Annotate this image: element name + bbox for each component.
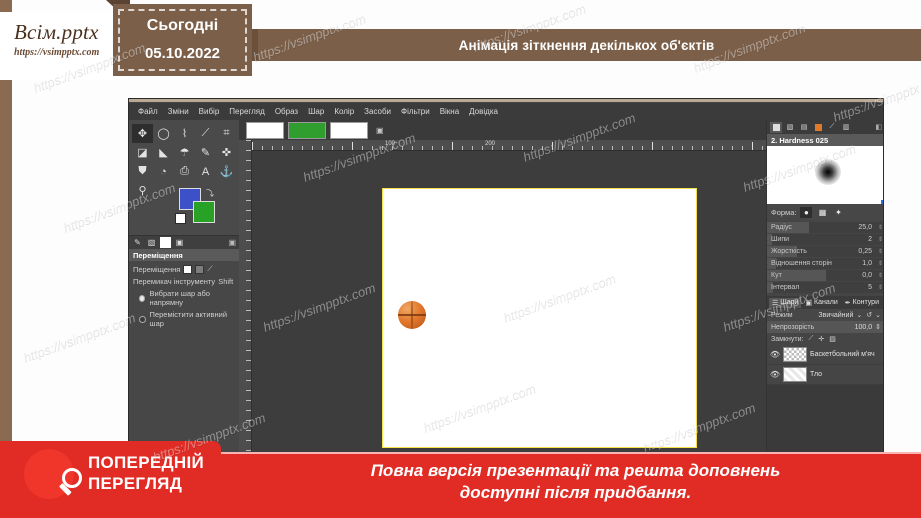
ruler-tick [352, 142, 353, 151]
canvas-viewport[interactable] [252, 151, 766, 496]
param-value: 0,25 [858, 248, 872, 255]
menu-item-6[interactable]: Колір [329, 105, 359, 118]
ruler-tick-v [246, 160, 251, 161]
param-spinner-icon[interactable]: ⇕ [878, 236, 883, 243]
crop-tool[interactable]: ⌗ [216, 124, 237, 143]
gimp-canvas-area: ▣ ▣ 100200 [239, 120, 766, 496]
tool-option-radio-1[interactable]: Перемістити активний шар [129, 307, 239, 328]
move-path-icon[interactable]: ⟋ [207, 264, 212, 274]
ruler-tick-v [246, 410, 251, 411]
chevron-down-icon-2[interactable]: ⌄ [875, 311, 881, 319]
ruler-tick-v [246, 150, 251, 151]
layer-mode-row[interactable]: Режим Звичайний ⌄ ↺ ⌄ [767, 309, 884, 321]
ruler-tick-v [246, 360, 251, 361]
brush-indicator-icon[interactable]: ✎ [132, 237, 143, 248]
brush-param-3[interactable]: Відношення сторін1,0⇕ [767, 258, 884, 269]
layer-thumbnail[interactable] [783, 367, 807, 382]
tool-options-row[interactable]: Переміщення ⟋ [129, 261, 239, 274]
menu-item-10[interactable]: Довідка [464, 105, 503, 118]
layer-opacity-row[interactable]: Непрозорість 100,0 ⇕ [767, 321, 884, 333]
brush-resize-handle[interactable] [881, 200, 884, 204]
gimp-menubar[interactable]: ФайлЗміниВибірПереглядОбразШарКолірЗасоб… [129, 103, 883, 120]
horizontal-ruler[interactable]: 100200 [252, 140, 766, 151]
layers-icon: ☰ [772, 299, 778, 307]
page-title: Анімація зіткнення декількох об'єктів [459, 38, 715, 53]
perspective-tool[interactable]: ⛊ [132, 162, 153, 181]
date-badge: Сьогодні 05.10.2022 [113, 4, 252, 76]
brand-url: https://vsimpptx.com [14, 47, 99, 58]
move-tool[interactable]: ✥ [132, 124, 153, 143]
measure-tool[interactable]: ⚓ [216, 162, 237, 181]
ruler-tick-v [246, 320, 251, 321]
paths-tool[interactable]: ⟋ [195, 124, 216, 143]
magnifier-icon [24, 449, 74, 499]
tab-gradients-icon[interactable]: ⟋ [826, 122, 838, 133]
brush-param-2[interactable]: Жорсткість0,25⇕ [767, 246, 884, 257]
menu-item-4[interactable]: Образ [270, 105, 303, 118]
ruler-tick-v [246, 250, 251, 251]
tool-options-header: Переміщення [129, 249, 239, 261]
image-thumbnail-bar[interactable]: ▣ [239, 120, 766, 140]
close-image-icon[interactable]: ▣ [376, 126, 384, 135]
param-value: 1,0 [862, 260, 872, 267]
ruler-tick-v [246, 440, 251, 441]
layer-thumbnail[interactable] [783, 347, 807, 362]
brush-name: 2. Hardness 025 [767, 134, 884, 146]
tab-fonts-icon[interactable]: ▤ [798, 122, 810, 133]
tab-brushes-icon[interactable] [770, 122, 782, 133]
brush-parameters[interactable]: Радіус25,0⇕Шипи2⇕Жорсткість0,25⇕Відношен… [767, 222, 884, 293]
diamond-shape-icon[interactable]: ✦ [832, 207, 844, 218]
pattern-indicator-icon[interactable]: ▧ [146, 237, 157, 248]
color-swatches[interactable]: ⤵ [175, 188, 221, 226]
preview-badge: ПОПЕРЕДНІЙ ПЕРЕГЛЯД [0, 441, 221, 507]
tab-document-history-icon[interactable]: ▥ [840, 122, 852, 133]
ruler-tick-v [246, 270, 251, 271]
brush-param-4[interactable]: Кут0,0⇕ [767, 270, 884, 281]
brush-preview[interactable] [767, 146, 884, 204]
ruler-tick-v [246, 140, 251, 141]
ruler-tick-v [246, 420, 251, 421]
layer-row[interactable]: 👁Тло [767, 365, 884, 385]
param-label: Інтервал [767, 284, 799, 291]
tab-palettes-icon[interactable] [812, 122, 824, 133]
move-layer-icon[interactable] [183, 265, 192, 274]
brush-param-5[interactable]: Інтервал5⇕ [767, 282, 884, 293]
menu-item-3[interactable]: Перегляд [224, 105, 270, 118]
tab-channels-label: Канали [814, 299, 838, 306]
bucket-fill-tool[interactable]: ◣ [153, 143, 174, 162]
menu-item-9[interactable]: Вікна [435, 105, 464, 118]
brush-shape-preview [815, 159, 841, 185]
ruler-tick-v [246, 310, 251, 311]
ruler-tick-v [246, 370, 251, 371]
radio-on-icon[interactable] [139, 295, 145, 302]
ruler-tick-v [246, 340, 251, 341]
dock-menu-icon[interactable]: ◧ [875, 123, 882, 131]
ruler-tick-v [246, 400, 251, 401]
preview-badge-line-1: ПОПЕРЕДНІЙ [88, 453, 204, 473]
layer-opacity-value: 100,0 [855, 324, 873, 331]
param-label: Шипи [767, 236, 789, 243]
ruler-tick [452, 142, 453, 151]
ruler-tick [252, 142, 253, 151]
free-select-tool[interactable]: ⌇ [174, 124, 195, 143]
transform-tool[interactable]: ◪ [132, 143, 153, 162]
brand-name: Всім.pptx [14, 20, 99, 45]
layer-lock-row[interactable]: Замкнути: ⟋ ✛ ▨ [767, 333, 884, 345]
param-spinner-icon[interactable]: ⇕ [878, 260, 883, 267]
ball-seam-vertical [411, 301, 413, 329]
tab-layers-label: Шари [780, 299, 798, 306]
canvas-sheet[interactable] [383, 189, 696, 447]
param-spinner-icon[interactable]: ⇕ [878, 248, 883, 255]
layers-dock-menu-icon[interactable]: ◧ [883, 299, 884, 307]
ruler-tick-v [246, 220, 251, 221]
swap-colors-icon[interactable]: ⤵ [206, 188, 214, 199]
toolbox-indicator-row[interactable]: ✎ ▧ ▣ ▣ [129, 235, 239, 249]
channels-icon: ▣ [805, 299, 812, 307]
gimp-toolbox: ✥◯⌇⟋⌗◪◣☂✎✜⛊◔⎙A⚓⚲ ⤵ ✎ ▧ ▣ ▣ Переміщення П… [129, 120, 239, 496]
ruler-tick-v [246, 170, 251, 171]
param-label: Жорсткість [767, 248, 807, 255]
menu-item-8[interactable]: Фільтри [396, 105, 435, 118]
slide-title-bar: Анімація зіткнення декількох об'єктів [252, 29, 921, 61]
radio-off-icon[interactable] [139, 316, 146, 323]
layer-lock-label: Замкнути: [771, 336, 803, 343]
ruler-tick-v [246, 190, 251, 191]
image-indicator-icon[interactable]: ▣ [174, 237, 185, 248]
image-thumbnail-1[interactable] [246, 122, 284, 139]
banner-line-1: Повна версія презентації та решта доповн… [230, 461, 921, 481]
brush-dock-tabs[interactable]: ▧ ▤ ⟋ ▥ ◧ [767, 120, 884, 134]
smudge-tool[interactable]: ☂ [174, 143, 195, 162]
circle-shape-icon[interactable]: ● [800, 207, 812, 218]
date-label: Сьогодні [113, 17, 252, 35]
menu-item-1[interactable]: Зміни [163, 105, 194, 118]
lock-alpha-icon[interactable]: ▨ [829, 335, 836, 343]
lock-pixels-icon[interactable]: ⟋ [808, 335, 813, 343]
layer-visibility-icon[interactable]: 👁 [770, 350, 780, 360]
ruler-tick-v [246, 380, 251, 381]
tool-option-label-1: Перемістити активний шар [150, 310, 235, 328]
brush-param-0[interactable]: Радіус25,0⇕ [767, 222, 884, 233]
param-spinner-icon[interactable]: ⇕ [878, 224, 883, 231]
tab-channels[interactable]: ▣ Канали [802, 298, 840, 308]
lock-position-icon[interactable]: ✛ [818, 335, 824, 343]
layer-mode-value: Звичайний [818, 312, 853, 319]
layer-row[interactable]: 👁Баскетбольний м'яч [767, 345, 884, 365]
ruler-tick-v [246, 260, 251, 261]
move-selection-icon[interactable] [195, 265, 204, 274]
ruler-label: 200 [485, 141, 495, 147]
gimp-right-docks: ▧ ▤ ⟋ ▥ ◧ 2. Hardness 025 Форма: ● ▦ ✦ Р… [766, 120, 884, 496]
image-thumbnail-3[interactable] [330, 122, 368, 139]
ruler-tick-v [246, 300, 251, 301]
param-value: 25,0 [858, 224, 872, 231]
layer-mode-label: Режим [771, 312, 793, 319]
brush-shape-label: Форма: [771, 208, 796, 217]
ruler-tick-v [246, 290, 251, 291]
toolbox-menu-icon[interactable]: ▣ [228, 238, 236, 247]
tool-toggle-row: Перемикач інструменту Shift [129, 274, 239, 286]
ruler-tick-v [246, 200, 251, 201]
tab-paths[interactable]: ✒ Контури [842, 298, 882, 308]
menu-item-0[interactable]: Файл [133, 105, 163, 118]
layer-list[interactable]: 👁Баскетбольний м'яч👁Тло [767, 345, 884, 385]
ellipse-select-tool[interactable]: ◯ [153, 124, 174, 143]
chevron-down-icon[interactable]: ⌄ [856, 311, 862, 319]
undo-history-icon[interactable]: ↺ [866, 311, 872, 319]
ruler-tick-v [246, 430, 251, 431]
ruler-tick-v [246, 390, 251, 391]
tab-patterns-icon[interactable]: ▧ [784, 122, 796, 133]
ruler-tick-v [246, 230, 251, 231]
param-label: Відношення сторін [767, 260, 832, 267]
gimp-window: ФайлЗміниВибірПереглядОбразШарКолірЗасоб… [128, 98, 884, 496]
watermark-text: https://vsimpptx.com [21, 310, 137, 365]
param-value: 0,0 [862, 272, 872, 279]
tab-paths-label: Контури [853, 299, 879, 306]
ruler-tick-v [246, 180, 251, 181]
square-shape-icon[interactable]: ▦ [816, 207, 828, 218]
preview-badge-line-2: ПЕРЕГЛЯД [88, 474, 182, 494]
param-spinner-icon[interactable]: ⇕ [878, 272, 883, 279]
heal-tool[interactable]: ✜ [216, 143, 237, 162]
image-thumbnail-2[interactable] [288, 122, 326, 139]
menu-item-2[interactable]: Вибір [194, 105, 225, 118]
gradient-indicator-icon[interactable] [160, 237, 171, 248]
banner-line-2: доступні після придбання. [230, 483, 921, 503]
ink-tool[interactable]: ⎙ [174, 162, 195, 181]
ruler-label: 100 [385, 141, 395, 147]
title-bar-cap [252, 29, 258, 61]
ruler-tick-v [246, 450, 251, 451]
brush-param-1[interactable]: Шипи2⇕ [767, 234, 884, 245]
param-spinner-icon[interactable]: ⇕ [878, 284, 883, 291]
layers-dock-tabs[interactable]: ☰ Шари ▣ Канали ✒ Контури ◧ [767, 296, 884, 309]
tool-toggle-label: Перемикач інструменту [133, 277, 215, 286]
text-tool[interactable]: A [195, 162, 216, 181]
param-label: Кут [767, 272, 782, 279]
tool-options-row-label: Переміщення [133, 265, 180, 274]
ruler-tick [752, 142, 753, 151]
menu-item-7[interactable]: Засоби [359, 105, 396, 118]
menu-item-5[interactable]: Шар [303, 105, 329, 118]
layer-visibility-icon[interactable]: 👁 [770, 370, 780, 380]
ruler-tick [652, 142, 653, 151]
paths-icon: ✒ [845, 299, 851, 307]
ruler-tick-v [246, 240, 251, 241]
background-color-swatch[interactable] [193, 201, 215, 223]
ruler-tick [552, 142, 553, 151]
ruler-tick-v [246, 210, 251, 211]
param-label: Радіус [767, 224, 792, 231]
slide-stage: Всім.pptx https://vsimpptx.com Сьогодні … [0, 0, 921, 518]
opacity-spinner-icon[interactable]: ⇕ [875, 323, 881, 331]
vertical-ruler[interactable] [239, 140, 252, 496]
ruler-tick-v [246, 350, 251, 351]
tool-toggle-key: Shift [218, 277, 233, 286]
brand-logo-card: Всім.pptx https://vsimpptx.com [0, 12, 128, 80]
ruler-tick-v [246, 280, 251, 281]
window-top-border [129, 99, 883, 102]
reset-colors-icon[interactable] [175, 213, 186, 224]
layer-name: Тло [810, 371, 822, 378]
basketball-object[interactable] [398, 301, 426, 329]
param-value: 2 [868, 236, 872, 243]
eraser-tool[interactable]: ◔ [153, 162, 174, 181]
ruler-tick-v [246, 330, 251, 331]
tool-option-label-0: Вибрати шар або напрямну [149, 289, 235, 307]
layer-name: Баскетбольний м'яч [810, 351, 875, 358]
tab-layers[interactable]: ☰ Шари [769, 298, 801, 308]
tool-option-radio-0[interactable]: Вибрати шар або напрямну [129, 286, 239, 307]
date-value: 05.10.2022 [113, 45, 252, 62]
layer-opacity-label: Непрозорість [771, 324, 814, 331]
param-value: 5 [868, 284, 872, 291]
zoom-tool[interactable]: ⚲ [132, 181, 153, 200]
pencil-tool[interactable]: ✎ [195, 143, 216, 162]
brush-shape-row[interactable]: Форма: ● ▦ ✦ [767, 204, 884, 221]
